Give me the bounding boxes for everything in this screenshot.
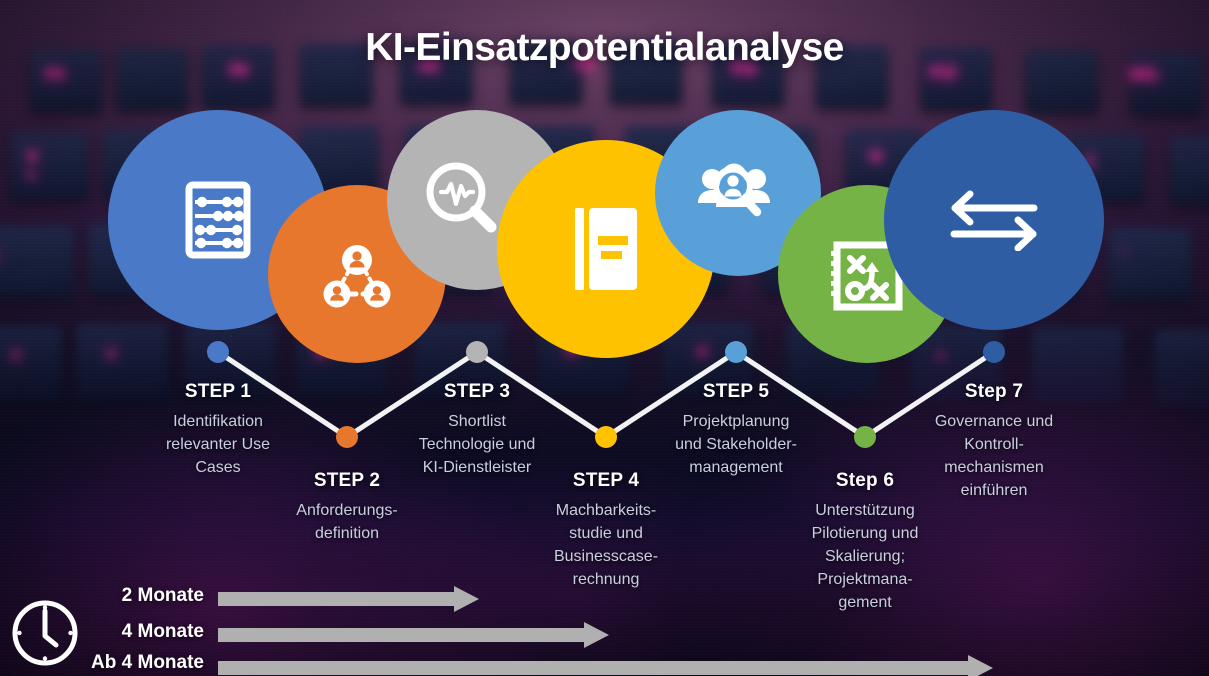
step-text-3: STEP 3 Shortlist Technologie und KI-Dien…: [384, 381, 570, 479]
step-text-5: STEP 5 Projektplanung und Stakeholder- m…: [643, 381, 829, 479]
timeline-arrow-3: [218, 655, 994, 676]
step-label-5: STEP 5: [643, 381, 829, 403]
step-text-4: STEP 4 Machbarkeits- studie und Business…: [513, 470, 699, 591]
step-description-2: Anforderungs- definition: [254, 499, 440, 545]
timeline-row-1: 2 Monate: [20, 585, 500, 607]
step-description-7: Governance und Kontroll- mechanismen ein…: [901, 410, 1087, 502]
step-description-3: Shortlist Technologie und KI-Dienstleist…: [384, 410, 570, 479]
timeline-row-3: Ab 4 Monate: [20, 652, 1020, 674]
step-description-6: Unterstützung Pilotierung und Skalierung…: [772, 499, 958, 614]
step-description-4: Machbarkeits- studie und Businesscase- r…: [513, 499, 699, 591]
timeline-label-3: Ab 4 Monate: [20, 652, 204, 674]
timeline-label-2: 4 Monate: [20, 621, 204, 643]
step-label-1: STEP 1: [125, 381, 311, 403]
timeline-arrow-1: [218, 586, 480, 617]
step-label-7: Step 7: [901, 381, 1087, 403]
step-label-3: STEP 3: [384, 381, 570, 403]
timeline-arrow-2: [218, 622, 610, 653]
step-text-1: STEP 1 Identifikation relevanter Use Cas…: [125, 381, 311, 479]
timeline-label-1: 2 Monate: [20, 585, 204, 607]
timeline-row-2: 4 Monate: [20, 621, 640, 643]
step-description-1: Identifikation relevanter Use Cases: [125, 410, 311, 479]
step-text-2: STEP 2 Anforderungs- definition: [254, 470, 440, 545]
step-text-7: Step 7 Governance und Kontroll- mechanis…: [901, 381, 1087, 502]
step-description-5: Projektplanung und Stakeholder- manageme…: [643, 410, 829, 479]
infographic-canvas: F4 F6 F8 F9 F11 F12 DEL 5 % 7 9 O [ R B …: [0, 0, 1209, 676]
